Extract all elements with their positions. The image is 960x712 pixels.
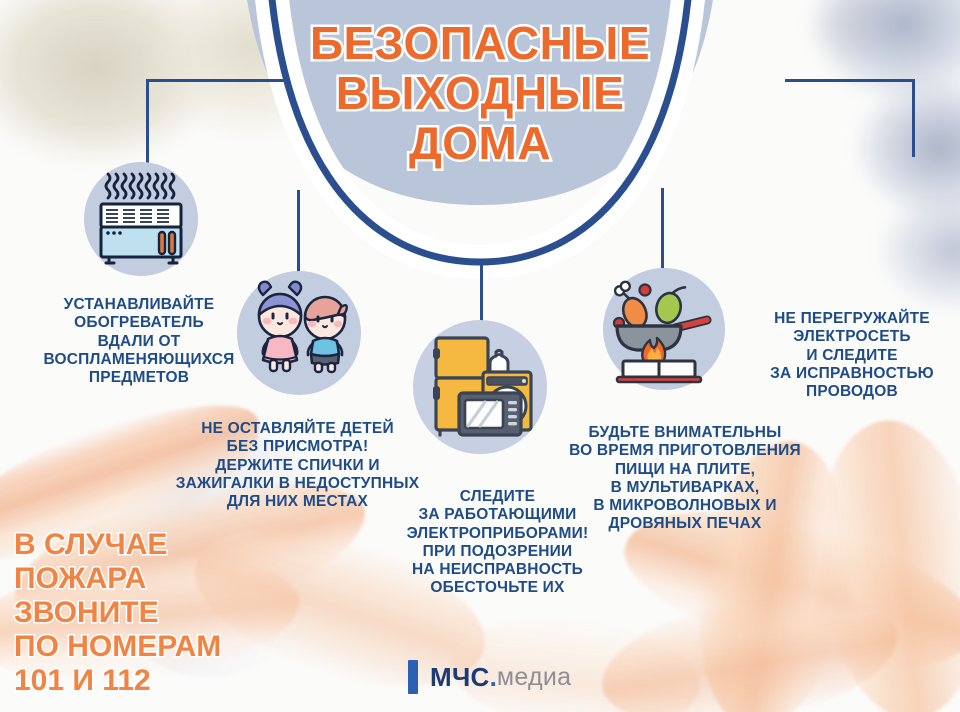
logo-bar-icon (408, 660, 418, 694)
emergency-line-1: В СЛУЧАЕ (14, 528, 264, 562)
caption-line: ВОСПЛАМЕНЯЮЩИХСЯ (14, 351, 264, 369)
caption-line: ПРЕДМЕТОВ (14, 369, 264, 387)
caption-line: ПИЩИ НА ПЛИТЕ, (567, 461, 803, 479)
title-line-1: БЕЗОПАСНЫЕ (0, 18, 960, 68)
emergency-line-4: ПО НОМЕРАМ (14, 630, 264, 664)
caption-line: ВДАЛИ ОТ (14, 333, 264, 351)
heater-icon (84, 162, 198, 276)
caption-line: ЗА ИСПРАВНОСТЬЮ (752, 365, 952, 383)
caption-line: УСТАНАВЛИВАЙТЕ (14, 296, 264, 314)
mchs-media-logo: МЧС . медиа (408, 658, 571, 696)
caption-line: НА НЕИСПРАВНОСТЬ (385, 561, 610, 579)
caption-line: НЕ ПЕРЕГРУЖАЙТЕ (752, 310, 952, 328)
caption-line: ОБОГРЕВАТЕЛЬ (14, 314, 264, 332)
caption-line: ПРОВОДОВ (752, 383, 952, 401)
emergency-call-block: В СЛУЧАЕ ПОЖАРА ЗВОНИТЕ ПО НОМЕРАМ 101 И… (14, 528, 264, 698)
title-line-3: ДОМА (0, 118, 960, 168)
logo-suffix-text: медиа (497, 663, 572, 692)
caption-line: В МУЛЬТИВАРКАХ, (567, 479, 803, 497)
caption-line: ВО ВРЕМЯ ПРИГОТОВЛЕНИЯ (567, 442, 803, 460)
caption-line: ПРИ ПОДОЗРЕНИИ (385, 543, 610, 561)
emergency-line-2: ПОЖАРА (14, 562, 264, 596)
tip-caption-wiring: НЕ ПЕРЕГРУЖАЙТЕЭЛЕКТРОСЕТЬИ СЛЕДИТЕЗА ИС… (752, 310, 952, 401)
emergency-line-3: ЗВОНИТЕ (14, 596, 264, 630)
caption-line: ДРОВЯНЫХ ПЕЧАХ (567, 515, 803, 533)
logo-dot: . (490, 662, 497, 693)
caption-line: ДЕРЖИТЕ СПИЧКИ И (160, 457, 435, 475)
tip-caption-cooking: БУДЬТЕ ВНИМАТЕЛЬНЫВО ВРЕМЯ ПРИГОТОВЛЕНИЯ… (567, 424, 803, 534)
tip-caption-heater: УСТАНАВЛИВАЙТЕОБОГРЕВАТЕЛЬВДАЛИ ОТВОСПЛА… (14, 296, 264, 387)
caption-line: ЭЛЕКТРОСЕТЬ (752, 328, 952, 346)
poster-canvas: БЕЗОПАСНЫЕ ВЫХОДНЫЕ ДОМА (0, 0, 960, 712)
caption-line: НЕ ОСТАВЛЯЙТЕ ДЕТЕЙ (160, 420, 435, 438)
page-title: БЕЗОПАСНЫЕ ВЫХОДНЫЕ ДОМА (0, 18, 960, 168)
caption-line: В МИКРОВОЛНОВЫХ И (567, 497, 803, 515)
caption-line: БУДЬТЕ ВНИМАТЕЛЬНЫ (567, 424, 803, 442)
caption-line: ОБЕСТОЧЬТЕ ИХ (385, 579, 610, 597)
title-line-2: ВЫХОДНЫЕ (0, 68, 960, 118)
logo-main-text: МЧС (430, 662, 490, 693)
emergency-line-5: 101 И 112 (14, 664, 264, 698)
caption-line: БЕЗ ПРИСМОТРА! (160, 438, 435, 456)
cooking-pan-icon (603, 268, 725, 390)
caption-line: И СЛЕДИТЕ (752, 347, 952, 365)
